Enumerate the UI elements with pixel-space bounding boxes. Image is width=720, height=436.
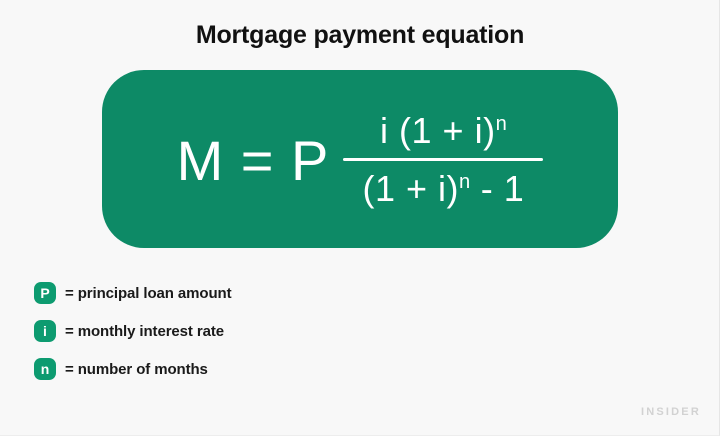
legend-item-interest-rate: i = monthly interest rate [34,312,231,350]
badge-n-icon: n [34,358,56,380]
equation-left-hand-side: M = P [177,133,344,189]
legend-item-label: = principal loan amount [65,285,231,302]
legend: P = principal loan amount i = monthly in… [34,274,231,388]
infographic-canvas: Mortgage payment equation M = P i (1 + i… [0,0,720,436]
numerator-base: i (1 + i) [380,110,496,151]
legend-item-number-of-months: n = number of months [34,350,231,388]
denominator-suffix: - 1 [470,168,524,209]
legend-item-label: = monthly interest rate [65,323,224,340]
badge-i-icon: i [34,320,56,342]
badge-p-icon: P [34,282,56,304]
legend-item-label: = number of months [65,361,208,378]
denominator-exponent: n [459,171,470,193]
mortgage-equation: M = P i (1 + i)n (1 + i)n - 1 [102,70,618,248]
denominator-base: (1 + i) [363,168,460,209]
page-title: Mortgage payment equation [0,21,720,50]
numerator-exponent: n [496,113,507,135]
formula-panel: M = P i (1 + i)n (1 + i)n - 1 [102,70,618,248]
insider-watermark: INSIDER [641,406,701,418]
fraction-numerator: i (1 + i)n [374,112,513,157]
legend-item-principal: P = principal loan amount [34,274,231,312]
equation-fraction: i (1 + i)n (1 + i)n - 1 [343,112,543,207]
fraction-denominator: (1 + i)n - 1 [357,161,531,208]
